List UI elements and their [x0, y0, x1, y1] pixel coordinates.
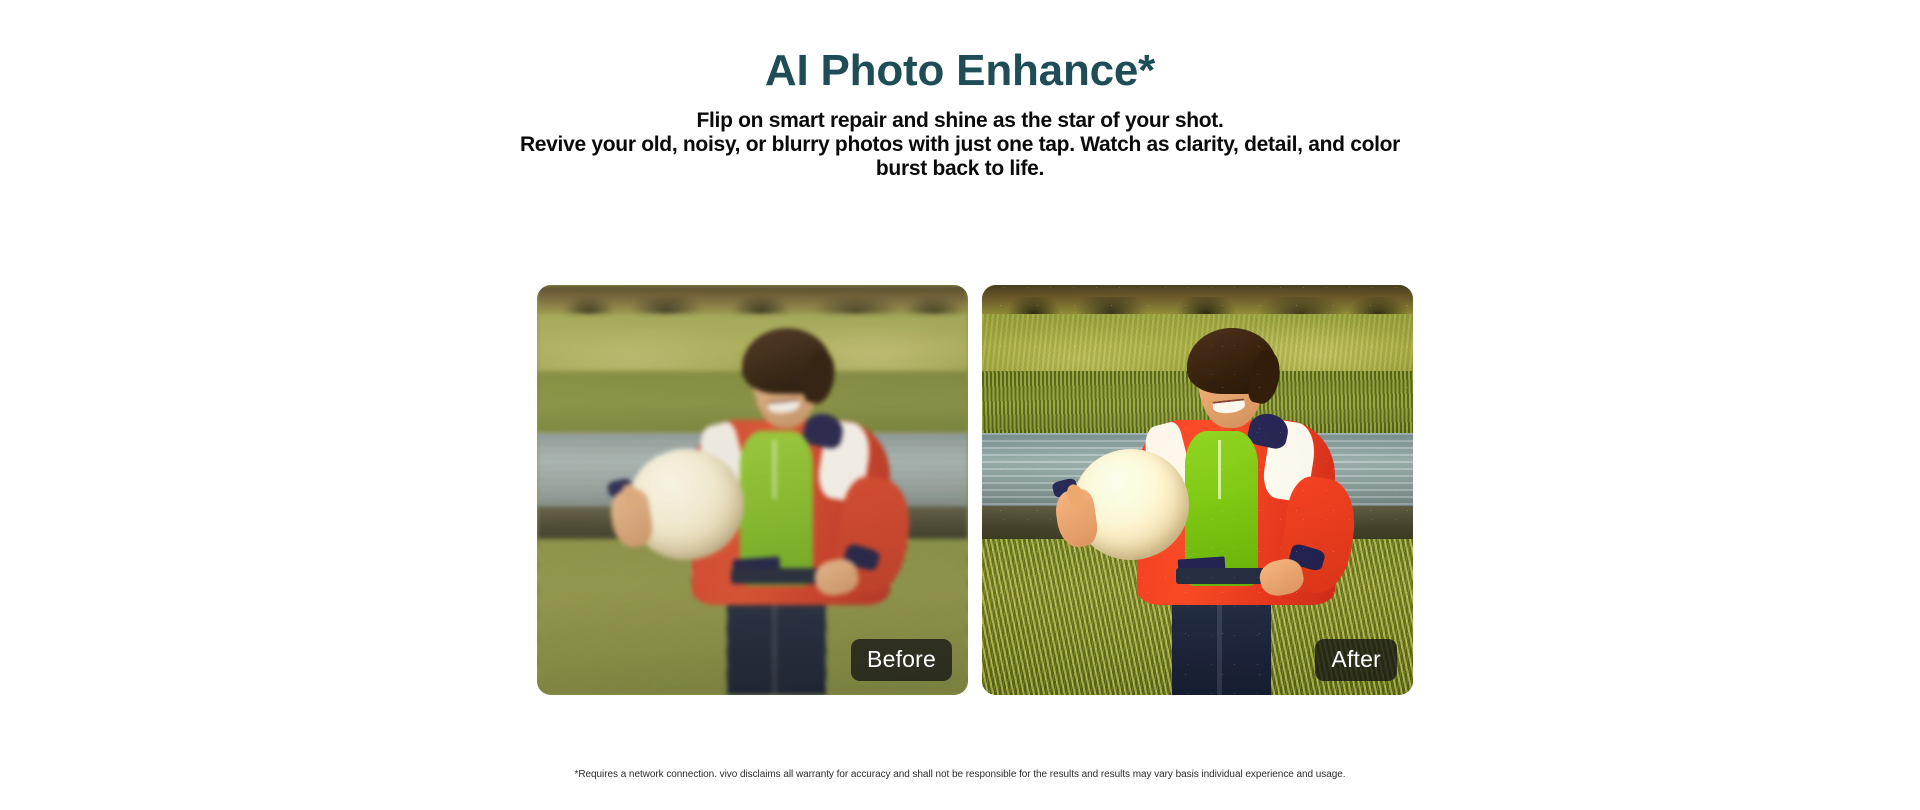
right-eye — [793, 377, 804, 383]
ai-photo-enhance-page: AI Photo Enhance* Flip on smart repair a… — [0, 0, 1920, 810]
after-badge: After — [1315, 639, 1397, 681]
before-badge: Before — [851, 639, 952, 681]
jeans-waistband — [731, 568, 822, 584]
person-figure — [537, 285, 968, 695]
hero-header: AI Photo Enhance* Flip on smart repair a… — [0, 44, 1920, 181]
after-photo-card[interactable]: After — [982, 285, 1413, 695]
hero-subtitle: Flip on smart repair and shine as the st… — [510, 109, 1410, 181]
hero-subtitle-line-3: burst back to life. — [876, 157, 1044, 180]
hero-subtitle-line-1: Flip on smart repair and shine as the st… — [697, 109, 1224, 132]
after-photo-image — [982, 285, 1413, 695]
legal-footnote: *Requires a network connection. vivo dis… — [0, 768, 1920, 782]
before-photo-card[interactable]: Before — [537, 285, 968, 695]
before-after-comparison: Before — [537, 285, 1413, 695]
page-title: AI Photo Enhance* — [0, 44, 1920, 98]
person-figure — [982, 285, 1413, 695]
before-photo-image — [537, 285, 968, 695]
right-eye — [1238, 377, 1249, 383]
jeans-waistband — [1176, 568, 1267, 584]
hero-subtitle-line-2: Revive your old, noisy, or blurry photos… — [520, 133, 1400, 156]
